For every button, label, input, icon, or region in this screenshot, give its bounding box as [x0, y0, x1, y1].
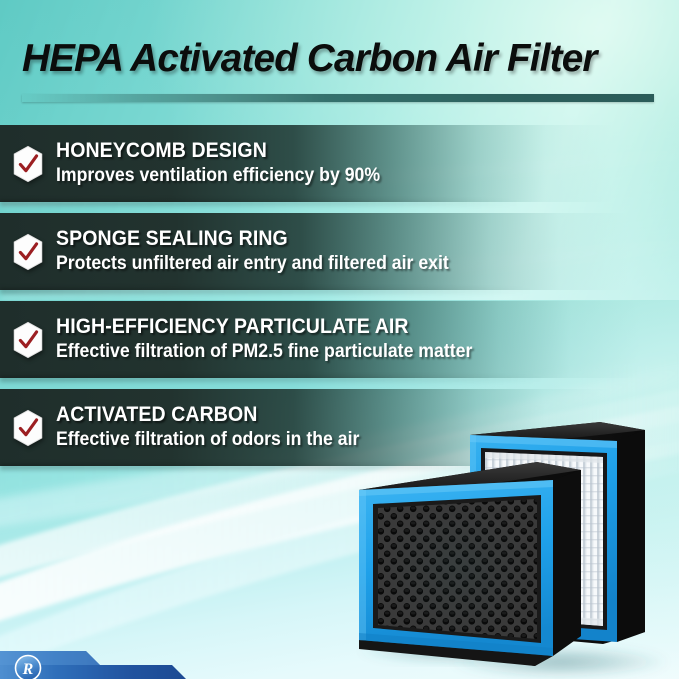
feature-row: HIGH-EFFICIENCY PARTICULATE AIR Effectiv…: [0, 301, 640, 378]
feature-title: HONEYCOMB DESIGN: [56, 140, 380, 163]
check-badge-icon: [9, 409, 47, 447]
activated-carbon-filter-product: [359, 462, 581, 666]
feature-subtitle: Protects unfiltered air entry and filter…: [56, 254, 449, 275]
product-infographic: HEPA Activated Carbon Air Filter HONEYCO…: [0, 0, 679, 679]
check-badge-icon: [9, 321, 47, 359]
page-title: HEPA Activated Carbon Air Filter: [22, 37, 597, 81]
feature-title: ACTIVATED CARBON: [56, 404, 359, 427]
feature-subtitle: Improves ventilation efficiency by 90%: [56, 166, 380, 187]
feature-row: SPONGE SEALING RING Protects unfiltered …: [0, 213, 628, 290]
feature-subtitle: Effective filtration of odors in the air: [56, 430, 359, 451]
product-image-group: [345, 400, 679, 679]
feature-title: SPONGE SEALING RING: [56, 228, 449, 251]
feature-row: HONEYCOMB DESIGN Improves ventilation ef…: [0, 125, 612, 202]
feature-title: HIGH-EFFICIENCY PARTICULATE AIR: [56, 316, 472, 339]
check-badge-icon: [9, 233, 47, 271]
check-badge-icon: [9, 145, 47, 183]
title-underline-rule: [22, 94, 654, 102]
feature-subtitle: Effective filtration of PM2.5 fine parti…: [56, 342, 472, 363]
